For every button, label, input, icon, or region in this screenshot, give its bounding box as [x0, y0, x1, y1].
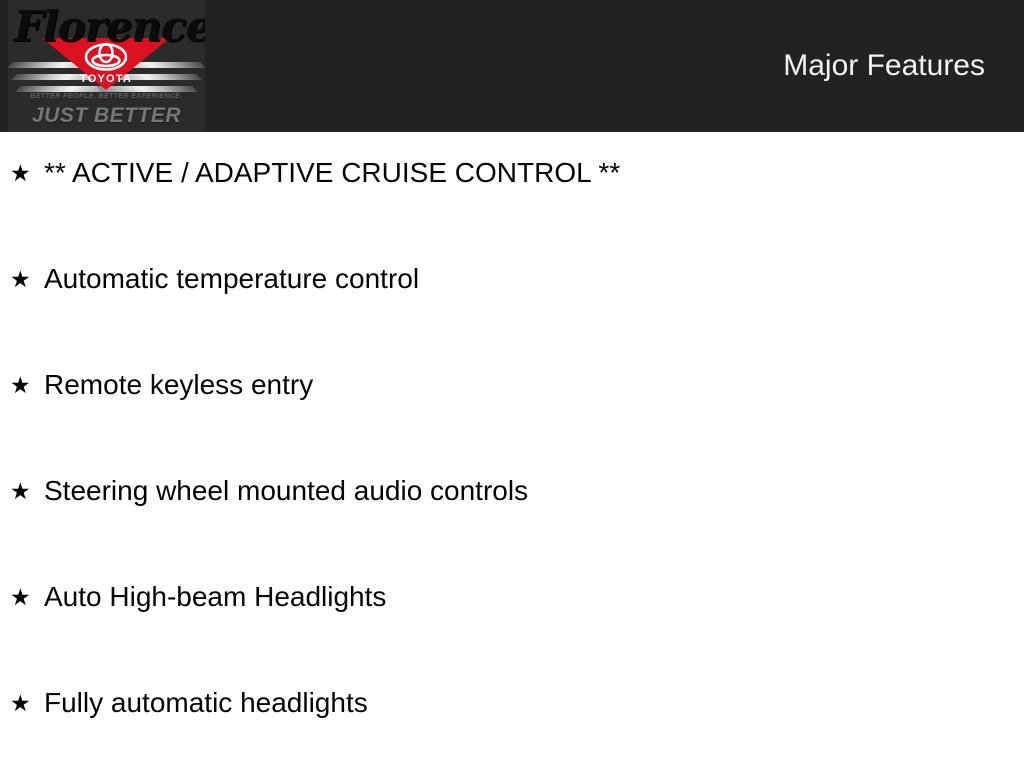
star-bullet-icon: ★	[10, 478, 31, 506]
feature-list: ★ ** ACTIVE / ADAPTIVE CRUISE CONTROL **…	[0, 132, 1024, 768]
feature-label: Steering wheel mounted audio controls	[44, 474, 528, 508]
star-bullet-icon: ★	[10, 584, 31, 612]
dealer-name-wordmark: Florence	[14, 2, 204, 52]
list-item: ★ Automatic temperature control	[0, 238, 1024, 344]
star-bullet-icon: ★	[10, 266, 31, 294]
feature-label: ** ACTIVE / ADAPTIVE CRUISE CONTROL **	[44, 156, 620, 190]
feature-label: Remote keyless entry	[44, 368, 313, 402]
slide-header: TOYOTA Florence BETTER PEOPLE. BETTER EX…	[0, 0, 1024, 132]
list-item: ★ Fully automatic headlights	[0, 662, 1024, 768]
logo-tagline-large: JUST BETTER	[8, 104, 205, 128]
slide-body: ★ ** ACTIVE / ADAPTIVE CRUISE CONTROL **…	[0, 132, 1024, 768]
toyota-brand-word: TOYOTA	[70, 73, 142, 85]
star-bullet-icon: ★	[10, 160, 31, 188]
dealer-logo: TOYOTA Florence BETTER PEOPLE. BETTER EX…	[8, 0, 205, 132]
list-item: ★ Auto High-beam Headlights	[0, 556, 1024, 662]
list-item: ★ Remote keyless entry	[0, 344, 1024, 450]
logo-tagline-small: BETTER PEOPLE. BETTER EXPERIENCE.	[8, 93, 205, 100]
star-bullet-icon: ★	[10, 372, 31, 400]
feature-label: Fully automatic headlights	[44, 686, 368, 720]
list-item: ★ Steering wheel mounted audio controls	[0, 450, 1024, 556]
list-item: ★ ** ACTIVE / ADAPTIVE CRUISE CONTROL **	[0, 132, 1024, 238]
star-bullet-icon: ★	[10, 690, 31, 718]
feature-label: Auto High-beam Headlights	[44, 580, 386, 614]
dealer-logo-artwork: TOYOTA Florence BETTER PEOPLE. BETTER EX…	[8, 0, 205, 132]
page-title: Major Features	[783, 48, 985, 84]
feature-label: Automatic temperature control	[44, 262, 419, 296]
